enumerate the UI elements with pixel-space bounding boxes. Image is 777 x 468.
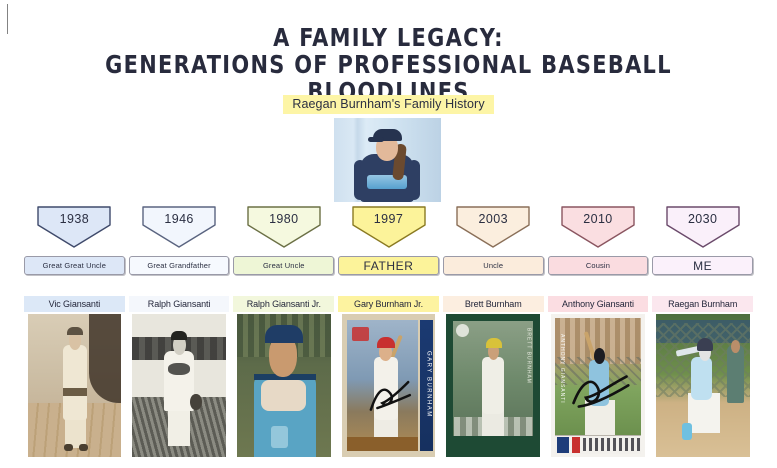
role-cell-1[interactable]: Great Great Uncle (22, 256, 127, 276)
arrow-shape-icon (139, 203, 219, 249)
timeline-year-cell-2[interactable]: 1946 (127, 203, 232, 251)
role-label-great-great-uncle[interactable]: Great Great Uncle (24, 256, 125, 275)
player-photo-ralph-giansanti-jr (237, 314, 331, 457)
role-cell-3[interactable]: Great Uncle (231, 256, 336, 276)
player-cards-row: Vic Giansanti Ralph Giansanti (22, 296, 755, 461)
figure-glove (190, 394, 201, 410)
subtitle: Raegan Burnham's Family History (283, 95, 493, 114)
card-bottom-name-text (583, 438, 641, 451)
role-cell-7[interactable]: ME (650, 256, 755, 276)
card-bottom-band (453, 436, 534, 453)
player-card-4[interactable]: Gary Burnham Jr. GARY BURNHAM (336, 296, 441, 461)
figure-helmet (697, 338, 713, 351)
figure-shoe-right (79, 444, 88, 451)
photo-shadow-area (89, 314, 121, 403)
year-arrow-4[interactable]: 1997 (349, 203, 429, 249)
arrow-shape-icon (244, 203, 324, 249)
player-card-5[interactable]: Brett Burnham BRETT BURNHAM (441, 296, 546, 461)
year-arrow-1[interactable]: 1938 (34, 203, 114, 249)
background-person-head (731, 340, 740, 353)
figure-jersey-script (168, 363, 190, 376)
player-name-brett-burnham: Brett Burnham (443, 296, 544, 312)
player-name-gary-burnham-jr: Gary Burnham Jr. (338, 296, 439, 312)
figure-helmet (486, 338, 502, 348)
timeline-role-row: Great Great Uncle Great Grandfather Grea… (22, 256, 755, 276)
subtitle-container: Raegan Burnham's Family History (0, 93, 777, 114)
player-name-vic-giansanti: Vic Giansanti (24, 296, 125, 312)
role-cell-4[interactable]: FATHER (336, 256, 441, 276)
arrow-shape-icon (349, 203, 429, 249)
card-team-mark-red (572, 437, 580, 453)
arrow-shape-icon (558, 203, 638, 249)
role-label-great-grandfather[interactable]: Great Grandfather (129, 256, 230, 275)
timeline-year-cell-1[interactable]: 1938 (22, 203, 127, 251)
player-photo-ralph-giansanti (132, 314, 226, 457)
timeline-year-cell-3[interactable]: 1980 (231, 203, 336, 251)
player-card-3[interactable]: Ralph Giansanti Jr. (231, 296, 336, 461)
player-photo-anthony-giansanti: ANTHONY GIANSANTI (551, 314, 645, 457)
hero-portrait-photo (334, 118, 441, 202)
figure-shoe-left (64, 444, 73, 451)
figure-body (482, 357, 504, 414)
role-label-great-uncle[interactable]: Great Uncle (233, 256, 334, 275)
player-card-6[interactable]: Anthony Giansanti ANTHONY GIANSANTI (546, 296, 651, 461)
timeline-year-cell-5[interactable]: 2003 (441, 203, 546, 251)
year-arrow-5[interactable]: 2003 (453, 203, 533, 249)
player-card-1[interactable]: Vic Giansanti (22, 296, 127, 461)
role-label-me[interactable]: ME (652, 256, 753, 275)
team-logo-icon (456, 324, 469, 337)
player-photo-raegan-burnham (656, 314, 750, 457)
figure-helmet (377, 337, 395, 348)
year-arrow-2[interactable]: 1946 (139, 203, 219, 249)
player-name-anthony-giansanti: Anthony Giansanti (548, 296, 649, 312)
figure-sock (682, 423, 692, 440)
figure-cap (67, 327, 83, 336)
infographic-canvas: A FAMILY LEGACY: GENERATIONS OF PROFESSI… (0, 0, 777, 468)
timeline-year-cell-7[interactable]: 2030 (650, 203, 755, 251)
player-photo-gary-burnham-jr: GARY BURNHAM (342, 314, 436, 457)
figure-belt (63, 388, 87, 395)
role-label-father[interactable]: FATHER (338, 256, 439, 275)
timeline-year-row: 1938 1946 1980 19 (22, 203, 755, 251)
role-cell-2[interactable]: Great Grandfather (127, 256, 232, 276)
autograph-signature (366, 363, 415, 429)
year-arrow-7[interactable]: 2030 (663, 203, 743, 249)
card-vertical-name: GARY BURNHAM (422, 337, 431, 431)
player-card-7[interactable]: Raegan Burnham (650, 296, 755, 461)
player-name-raegan-burnham: Raegan Burnham (652, 296, 753, 312)
role-cell-5[interactable]: Uncle (441, 256, 546, 276)
figure-jersey-number (271, 426, 288, 449)
role-cell-6[interactable]: Cousin (546, 256, 651, 276)
role-label-cousin[interactable]: Cousin (548, 256, 649, 275)
arrow-shape-icon (663, 203, 743, 249)
figure-body (63, 345, 87, 419)
year-arrow-3[interactable]: 1980 (244, 203, 324, 249)
figure-body (691, 357, 712, 400)
player-photo-vic-giansanti (28, 314, 122, 457)
figure-arms (261, 380, 306, 411)
card-vertical-name: BRETT BURNHAM (525, 328, 532, 400)
year-arrow-6[interactable]: 2010 (558, 203, 638, 249)
card-vertical-name: ANTHONY GIANSANTI (558, 334, 565, 408)
arrow-shape-icon (453, 203, 533, 249)
player-photo-brett-burnham: BRETT BURNHAM (446, 314, 540, 457)
hero-cap (373, 129, 402, 141)
arrow-shape-icon (34, 203, 114, 249)
title-line-1: A FAMILY LEGACY: (27, 24, 750, 51)
background-person-body (727, 345, 744, 402)
card-team-mark-blue (557, 437, 569, 453)
card-bottom-band (347, 437, 418, 451)
player-name-ralph-giansanti: Ralph Giansanti (129, 296, 230, 312)
timeline-year-cell-6[interactable]: 2010 (546, 203, 651, 251)
autograph-signature (570, 354, 632, 426)
team-logo-icon (352, 327, 369, 341)
player-name-ralph-giansanti-jr: Ralph Giansanti Jr. (233, 296, 334, 312)
figure-cap (171, 331, 188, 340)
figure-cap (265, 325, 302, 342)
role-label-uncle[interactable]: Uncle (443, 256, 544, 275)
timeline-year-cell-4[interactable]: 1997 (336, 203, 441, 251)
player-card-2[interactable]: Ralph Giansanti (127, 296, 232, 461)
